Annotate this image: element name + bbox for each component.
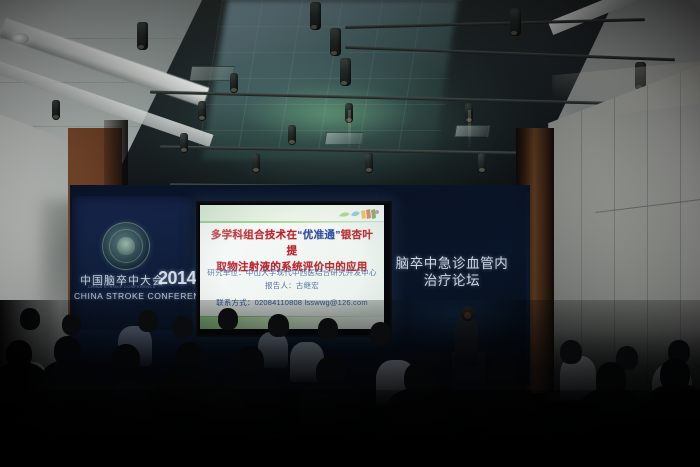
track-spotlight-icon (288, 125, 296, 145)
recessed-downlight-icon (12, 33, 29, 44)
track-spotlight-icon (365, 153, 373, 173)
slide-research-unit: 研究单位：中山大学现代中西医结合研究开发中心 (206, 267, 378, 279)
audience-head (318, 318, 338, 340)
slide-presenter: 报告人：古继宏 (206, 280, 378, 291)
foreground-darkness (0, 390, 700, 467)
forum-banner-text: 脑卒中急诊血管内 治疗论坛 (378, 255, 526, 289)
stroke-conference-emblem-icon (102, 222, 150, 270)
audience-head (560, 340, 582, 364)
track-spotlight-icon (330, 28, 341, 56)
banner-year: 2014 (158, 268, 196, 289)
ceiling-fixture-panel (324, 132, 364, 145)
emblem-core (117, 237, 135, 255)
track-spotlight-icon (252, 153, 260, 173)
audience-head (218, 308, 238, 330)
track-spotlight-icon (510, 8, 521, 36)
light-beam (468, 110, 471, 150)
track-spotlight-icon (340, 58, 351, 86)
conference-hall-photo: 中国脑卒中大会 CHINA STROKE CONFERENCE 2014 CHI… (0, 0, 700, 467)
audience-head (370, 322, 391, 345)
audience-head (62, 314, 81, 335)
audience-head (172, 316, 193, 338)
track-spotlight-icon (137, 22, 148, 50)
audience-head (268, 314, 289, 337)
audience-head (138, 310, 158, 332)
track-spotlight-icon (52, 100, 60, 120)
slide-top-rule (200, 221, 384, 223)
forum-banner-line2: 治疗论坛 (378, 272, 526, 289)
track-spotlight-icon (180, 133, 188, 153)
ceiling-fixture-panel (454, 125, 490, 137)
track-spotlight-icon (310, 2, 321, 30)
track-spotlight-icon (230, 73, 238, 93)
slide-title-line1-part1: 多学科组合技术在 (211, 229, 297, 241)
track-spotlight-icon (198, 101, 206, 121)
colorful-leaf-logo-icon (337, 207, 379, 221)
banner-chinese-subtitle: CHINA STROKE CONFERENCE (76, 284, 168, 289)
forum-banner-line1: 脑卒中急诊血管内 (378, 255, 526, 272)
ceiling-fixture-panel (189, 66, 235, 81)
slide-title-line1: 多学科组合技术在“优准通”银杏叶提 (206, 227, 378, 259)
track-spotlight-icon (478, 153, 486, 173)
light-beam (348, 110, 351, 150)
slide-title-highlight: “优准通” (297, 229, 341, 241)
